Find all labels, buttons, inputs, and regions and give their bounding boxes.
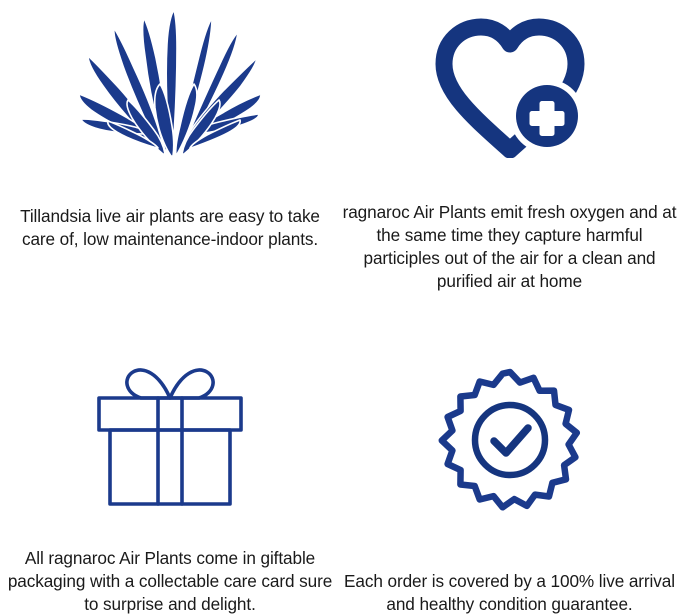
feature-caption: Tillandsia live air plants are easy to t… — [0, 205, 340, 251]
feature-cell-guarantee: Each order is covered by a 100% live arr… — [340, 308, 679, 616]
guarantee-seal-check-icon — [340, 308, 679, 530]
feature-cell-gift: All ragnaroc Air Plants come in giftable… — [0, 308, 340, 616]
feature-grid: Tillandsia live air plants are easy to t… — [0, 0, 679, 616]
feature-caption: All ragnaroc Air Plants come in giftable… — [0, 547, 340, 616]
air-plant-icon — [0, 0, 340, 164]
heart-plus-icon — [340, 0, 679, 168]
feature-cell-oxygen: ragnaroc Air Plants emit fresh oxygen an… — [340, 0, 679, 308]
feature-caption: Each order is covered by a 100% live arr… — [340, 570, 679, 616]
feature-cell-air-plants: Tillandsia live air plants are easy to t… — [0, 0, 340, 308]
gift-box-icon — [0, 308, 340, 507]
feature-caption: ragnaroc Air Plants emit fresh oxygen an… — [340, 201, 679, 293]
